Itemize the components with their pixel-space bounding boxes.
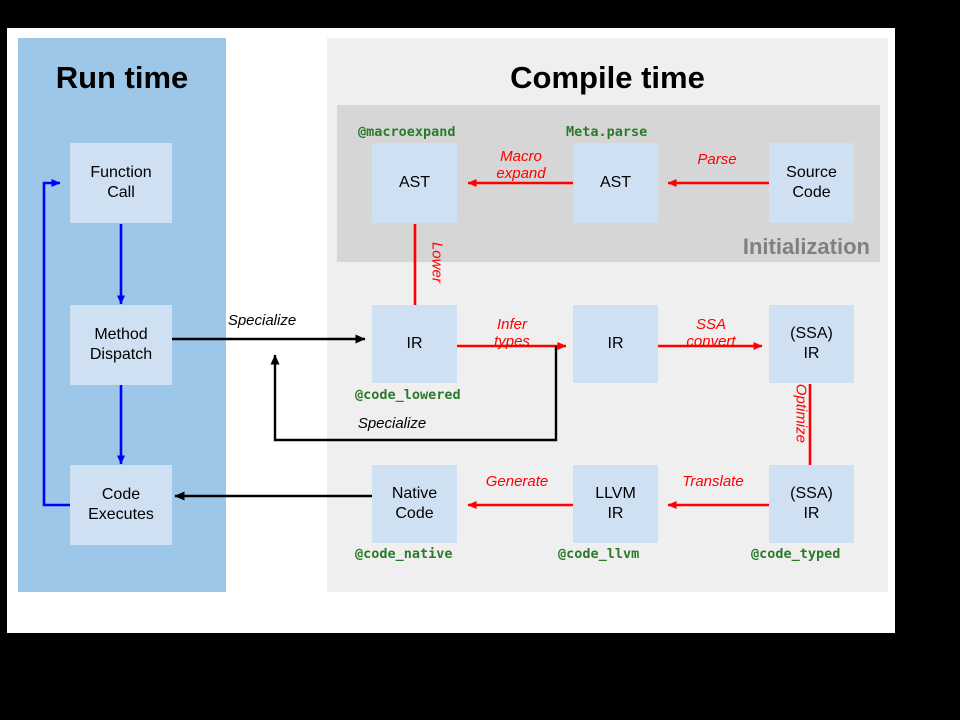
annotation-macroexpand: @macroexpand (358, 124, 456, 140)
annotation-meta-parse: Meta.parse (566, 124, 647, 140)
edge-label-infer-types-line2: types (480, 334, 544, 351)
box-ir-lowered[interactable]: IR (372, 305, 457, 383)
edge-label-macro-expand-line2: expand (485, 166, 557, 183)
box-ssa-ir-top-label: (SSA) IR (790, 324, 833, 363)
box-ir-typed-label: IR (608, 334, 624, 354)
box-method-dispatch-label: Method Dispatch (90, 325, 152, 364)
box-method-dispatch[interactable]: Method Dispatch (70, 305, 172, 385)
box-code-executes-label: Code Executes (88, 485, 154, 524)
edge-label-ssa-convert-line1: SSA (675, 317, 747, 334)
box-ast-macroexpanded[interactable]: AST (372, 143, 457, 223)
edge-label-infer-types-line1: Infer (480, 317, 544, 334)
box-ir-lowered-label: IR (407, 334, 423, 354)
edge-label-generate: Generate (477, 474, 557, 491)
box-ssa-ir-top[interactable]: (SSA) IR (769, 305, 854, 383)
box-function-call-label: Function Call (90, 163, 151, 202)
edge-label-specialize-top: Specialize (207, 313, 317, 330)
arrow-codeexecutes-to-functioncall (44, 183, 70, 505)
diagram-canvas: Run time Compile time Initialization (7, 28, 895, 633)
edge-label-parse: Parse (687, 152, 747, 169)
annotation-code-lowered: @code_lowered (355, 387, 461, 403)
annotation-code-typed: @code_typed (751, 546, 840, 562)
box-source-code[interactable]: Source Code (769, 143, 854, 223)
edge-label-macro-expand-line1: Macro (485, 149, 557, 166)
box-source-code-label: Source Code (786, 163, 837, 202)
box-ssa-ir-bottom-label: (SSA) IR (790, 484, 833, 523)
annotation-code-native: @code_native (355, 546, 453, 562)
box-native-code-label: Native Code (392, 484, 437, 523)
box-ast-parsed[interactable]: AST (573, 143, 658, 223)
box-ast-parsed-label: AST (600, 173, 631, 193)
edge-label-ssa-convert-line2: convert (675, 334, 747, 351)
edge-label-specialize-loop: Specialize (337, 416, 447, 433)
box-llvm-ir[interactable]: LLVM IR (573, 465, 658, 543)
box-code-executes[interactable]: Code Executes (70, 465, 172, 545)
box-native-code[interactable]: Native Code (372, 465, 457, 543)
edge-label-translate: Translate (673, 474, 753, 491)
box-function-call[interactable]: Function Call (70, 143, 172, 223)
box-ast-macroexpanded-label: AST (399, 173, 430, 193)
edge-label-lower: Lower (428, 235, 445, 289)
box-ir-typed[interactable]: IR (573, 305, 658, 383)
edge-label-optimize: Optimize (792, 378, 809, 448)
annotation-code-llvm: @code_llvm (558, 546, 639, 562)
box-ssa-ir-bottom[interactable]: (SSA) IR (769, 465, 854, 543)
box-llvm-ir-label: LLVM IR (595, 484, 636, 523)
